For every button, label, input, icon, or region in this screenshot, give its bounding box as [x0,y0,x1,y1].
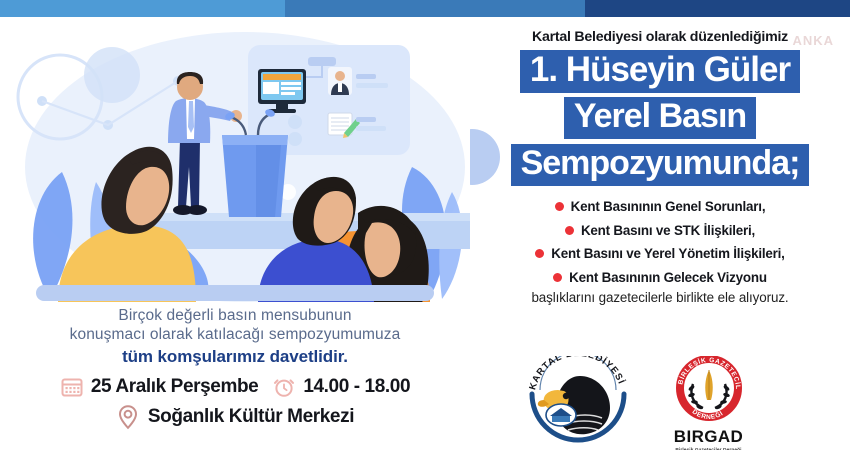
invitation-line-2: konuşmacı olarak katılacağı sempozyumumu… [70,326,401,343]
top-band-medium [285,0,585,17]
event-venue: Soğanlık Kültür Merkezi [0,404,470,430]
title-line-2: Yerel Basın [564,97,756,139]
top-color-bands [0,0,850,17]
birgad-logo: BİRLEŞİK GAZETECİLER DERNEĞİ BIRGAD Birl… [656,356,761,450]
invitation-line-1: Birçok değerli basın mensubunun [118,307,351,324]
event-date-time-row: 25 Aralık Perşembe 14.00 - 18.00 [0,375,470,399]
top-band-dark [585,0,850,17]
topic-text: Kent Basını ve Yerel Yönetim İlişkileri, [551,246,784,261]
conference-illustration [0,17,470,302]
birgad-acronym: BIRGAD [656,427,761,447]
event-details-block: Birçok değerli basın mensubunun konuşmac… [0,300,470,450]
topic-text: Kent Basınının Genel Sorunları, [571,199,766,214]
topic-text: Kent Basını ve STK İlişkileri, [581,223,755,238]
list-item: Kent Basınının Gelecek Vizyonu [470,270,850,285]
topics-list: Kent Basınının Genel Sorunları, Kent Bas… [470,199,850,305]
event-date: 25 Aralık Perşembe [60,375,258,399]
right-content-panel: Kartal Belediyesi olarak düzenlediğimiz … [470,17,850,450]
location-pin-icon [116,404,140,430]
alarm-clock-icon [272,375,296,399]
topics-closing-text: başlıklarını gazetecilerle birlikte ele … [470,290,850,305]
event-time-text: 14.00 - 18.00 [303,376,410,398]
kartal-belediyesi-logo: KARTAL BELEDİYESİ [518,356,638,446]
title-line-2-wrap: Yerel Basın [470,97,850,139]
list-item: Kent Basını ve STK İlişkileri, [470,223,850,238]
list-item: Kent Basını ve Yerel Yönetim İlişkileri, [470,246,850,261]
top-band-light [0,0,285,17]
list-item: Kent Basınının Genel Sorunları, [470,199,850,214]
bullet-dot-icon [565,226,574,235]
bullet-dot-icon [553,273,562,282]
title-line-3-wrap: Sempozyumunda; [470,144,850,186]
event-venue-text: Soğanlık Kültür Merkezi [148,406,354,428]
poster-canvas: Birçok değerli basın mensubunun konuşmac… [0,0,850,450]
calendar-icon [60,375,84,399]
title-line-1-wrap: 1. Hüseyin Güler [470,50,850,93]
title-line-1: 1. Hüseyin Güler [520,50,800,93]
event-date-text: 25 Aralık Perşembe [91,376,258,398]
event-time: 14.00 - 18.00 [272,375,410,399]
bullet-dot-icon [535,249,544,258]
topic-text: Kent Basınının Gelecek Vizyonu [569,270,767,285]
invitation-text: Birçok değerli basın mensubunun konuşmac… [0,300,470,368]
logo-row: KARTAL BELEDİYESİ [518,356,818,448]
invitation-emphasis: tüm komşularımız davetlidir. [0,346,470,368]
agency-watermark: ANKA [792,33,834,48]
title-line-3: Sempozyumunda; [511,144,810,186]
bullet-dot-icon [555,202,564,211]
